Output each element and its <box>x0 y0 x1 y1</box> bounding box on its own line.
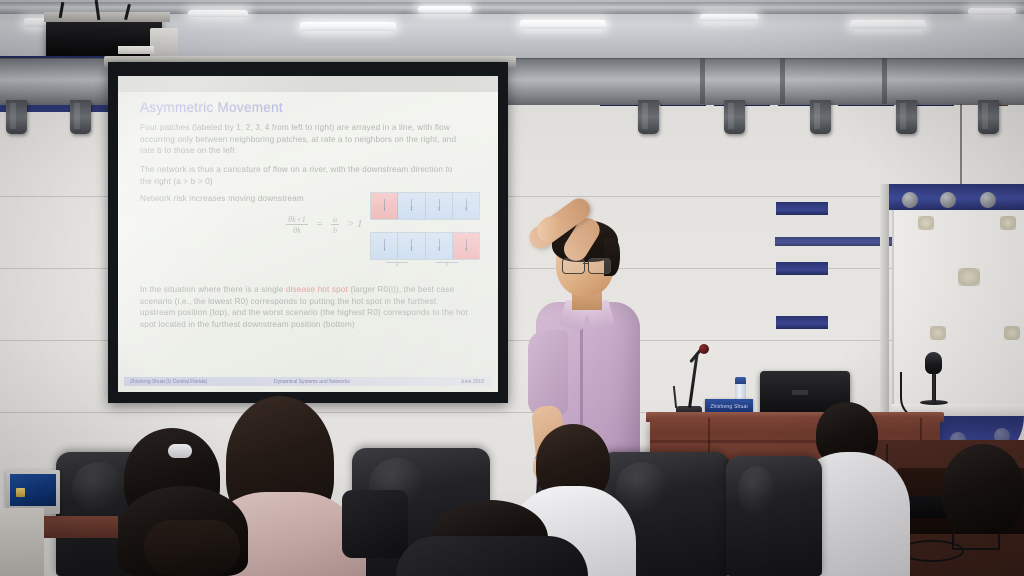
hair-tie <box>168 444 192 458</box>
screen-top-margin <box>118 76 498 92</box>
patch-label: 2 <box>398 206 424 211</box>
patch-diagram-top: 1 2 3 4 <box>370 192 480 220</box>
equation-lhs-fraction: θk+1 θk <box>286 214 308 235</box>
audience-member-3-shoulders <box>396 536 588 576</box>
patch-label: 4 <box>453 206 479 211</box>
patch-cell: 2 <box>398 193 425 219</box>
ceiling-light <box>968 8 1016 15</box>
patch-cell: 3 <box>426 193 453 219</box>
lecture-hall-photo: Asymmetric Movement Four patches (labele… <box>0 0 1024 576</box>
slide-paragraph-1: Four patches (labeled by 1, 2, 3, 4 from… <box>140 122 466 157</box>
ceiling-light <box>850 20 926 29</box>
ceiling-light <box>300 22 396 31</box>
floor-microphone-icon <box>925 352 942 374</box>
projector-lens-housing <box>150 28 178 58</box>
audience-member-7-head <box>942 444 1024 534</box>
equation-rhs-denominator: b <box>331 225 339 235</box>
duct-bracket <box>6 100 27 134</box>
audience-chair <box>726 456 822 576</box>
presenter-sleeve <box>528 330 568 416</box>
projector-label <box>118 46 154 54</box>
equation-rhs-fraction: a b <box>331 214 339 235</box>
ceiling-light <box>520 20 606 29</box>
audience-member-4-ponytail <box>144 520 240 576</box>
patch-row: 1 2 3 4 <box>370 232 480 260</box>
slide-equation: θk+1 θk = a b > 1 <box>286 214 363 235</box>
duct-bracket <box>724 100 745 134</box>
patch-cell-hot: 1 <box>371 193 398 219</box>
eyeglasses-icon <box>588 258 611 274</box>
patch-label: 4 <box>453 246 479 251</box>
patch-cell-hot: 4 <box>453 233 479 259</box>
patch-label: 1 <box>371 246 397 251</box>
duct-joint <box>780 58 785 104</box>
alcove-emblem <box>930 326 946 340</box>
duct-joint <box>700 58 705 104</box>
nameplate-text: Zhisheng Shuai <box>705 404 753 410</box>
slide-footer-author: Zhisheng Shuai (U Central Florida) <box>130 379 207 385</box>
blue-accent-bar <box>776 262 828 275</box>
paper-stack <box>0 508 44 576</box>
water-bottle-cap <box>735 377 746 384</box>
alcove-emblem <box>1000 216 1016 230</box>
alcove-header-bar <box>888 184 1024 210</box>
duct-bracket <box>896 100 917 134</box>
alcove-stud <box>940 192 956 208</box>
patch-label: 1 <box>371 206 397 211</box>
alcove-emblem <box>918 216 934 230</box>
rate-label-a-group: a <box>386 262 408 268</box>
slide-title: Asymmetric Movement <box>140 100 470 115</box>
rate-label-a: a <box>386 263 408 268</box>
duct-bracket <box>638 100 659 134</box>
alcove-emblem <box>1004 326 1020 340</box>
blue-accent-bar <box>775 237 893 246</box>
blue-accent-bar <box>776 316 828 329</box>
blue-accent-bar <box>776 202 828 215</box>
ceiling-light <box>418 6 472 13</box>
podium-microphone-icon <box>699 344 709 354</box>
alcove-stud <box>902 192 918 208</box>
ceiling-light <box>188 10 248 17</box>
alcove-emblem <box>958 268 980 286</box>
duct-bracket <box>978 100 999 134</box>
patch-label: 3 <box>426 246 452 251</box>
patch-cell: 2 <box>398 233 425 259</box>
duct-joint <box>882 58 887 104</box>
ceiling-projector <box>46 20 162 60</box>
slide: Asymmetric Movement Four patches (labele… <box>118 92 498 392</box>
patch-row: 1 2 3 4 <box>370 192 480 220</box>
slide-footer-date: June 2018 <box>461 379 484 385</box>
alcove-stud <box>980 192 996 208</box>
disease-hot-spot-highlight: disease hot spot <box>286 285 348 294</box>
rate-label-b: b <box>436 263 458 268</box>
duct-bracket <box>810 100 831 134</box>
equation-lhs-numerator: θk+1 <box>286 214 308 225</box>
patch-cell: 1 <box>371 233 398 259</box>
slide-footer: Zhisheng Shuai (U Central Florida) Dynam… <box>124 377 492 386</box>
handbag <box>342 490 408 558</box>
rate-label-b-group: b <box>436 262 458 268</box>
equation-lhs-denominator: θk <box>286 225 308 235</box>
patch-diagram-bottom: 1 2 3 4 <box>370 232 480 260</box>
final-paragraph-lead: In the situation where there is a single <box>140 285 286 294</box>
patch-label: 3 <box>426 206 452 211</box>
patch-cell: 4 <box>453 193 479 219</box>
patch-label: 2 <box>398 246 424 251</box>
slide-final-paragraph: In the situation where there is a single… <box>140 284 472 330</box>
slide-footer-center: Dynamical Systems and Networks <box>274 379 350 385</box>
alcove-left-pillar <box>880 184 889 422</box>
equation-comparison: > 1 <box>342 218 363 230</box>
ceiling-light <box>700 14 758 21</box>
equation-equals: = <box>311 218 328 230</box>
projector-mount <box>44 12 170 22</box>
duct-bracket <box>70 100 91 134</box>
projection-screen: Asymmetric Movement Four patches (labele… <box>118 76 498 392</box>
patch-cell: 3 <box>426 233 453 259</box>
equation-rhs-numerator: a <box>331 214 339 225</box>
desktop-icon <box>16 488 25 497</box>
eyeglasses-bridge <box>583 263 589 264</box>
slide-paragraph-2: The network is thus a caricature of flow… <box>140 164 466 187</box>
monitor-screen <box>10 474 56 506</box>
